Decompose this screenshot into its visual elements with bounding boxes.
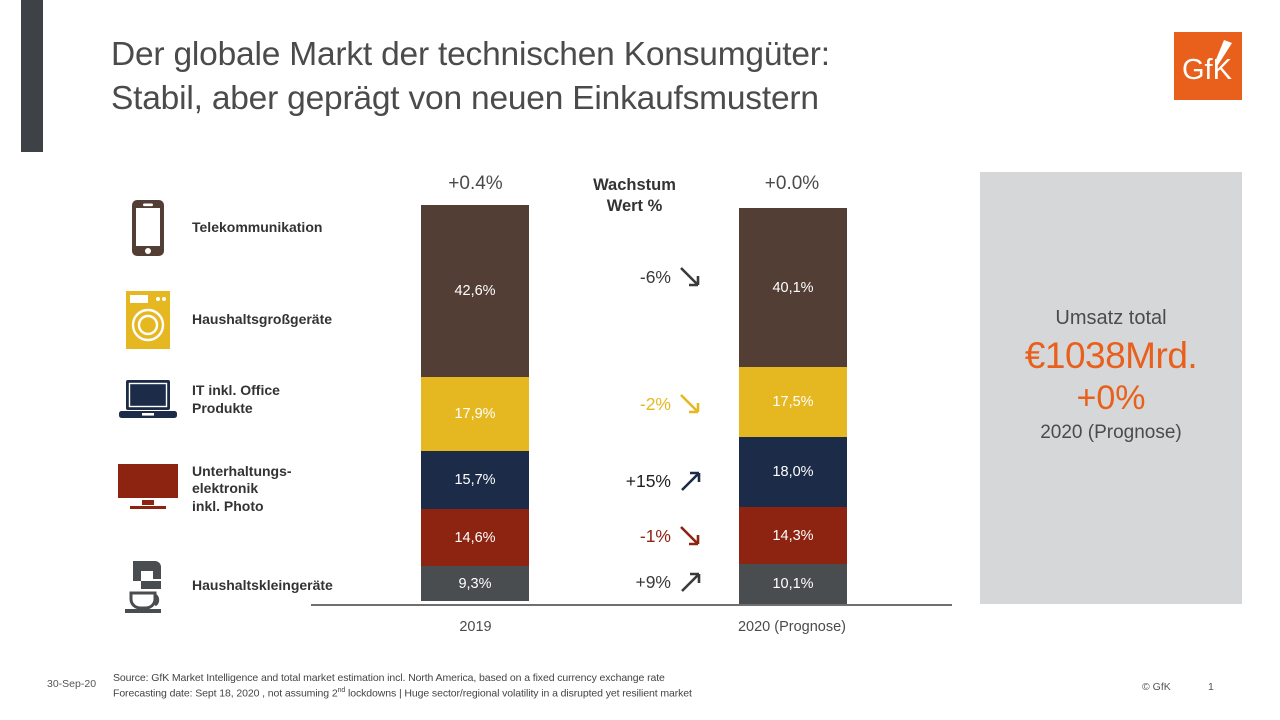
growth-header-line-2: Wert % (565, 196, 704, 217)
growth-value: +15% (626, 471, 671, 492)
legend-label: Unterhaltungs- elektronik inkl. Photo (192, 463, 292, 516)
growth-row-unterhaltungselektronik: -1% (565, 523, 704, 549)
kpi-panel: Umsatz total €1038Mrd. +0% 2020 (Prognos… (980, 172, 1242, 604)
bar-segment: 14,6% (421, 509, 529, 566)
bar-segment: 40,1% (739, 208, 847, 367)
legend-item-it-office: IT inkl. Office Produkte (118, 370, 280, 430)
legend-label: Haushaltskleingeräte (192, 577, 333, 595)
page-title: Der globale Markt der technischen Konsum… (111, 33, 1131, 121)
smartphone-icon (118, 198, 178, 258)
growth-row-haushaltskleingeraete: +9% (565, 569, 704, 595)
growth-value: -1% (640, 526, 671, 547)
footer-source-line-1: Source: GfK Market Intelligence and tota… (113, 671, 692, 686)
title-line-2: Stabil, aber geprägt von neuen Einkaufsm… (111, 77, 1131, 121)
slide-root: Der globale Markt der technischen Konsum… (0, 0, 1280, 720)
washing-machine-icon (118, 290, 178, 350)
growth-column-header: Wachstum Wert % (565, 175, 704, 217)
kpi-subtitle: 2020 (Prognose) (980, 420, 1242, 446)
legend-label: Haushaltsgroßgeräte (192, 311, 332, 329)
column-total-2020: +0.0% (713, 173, 871, 195)
arrow-down-icon (678, 523, 704, 549)
stacked-bar-2020: 40,1% 17,5% 18,0% 14,3% 10,1% (739, 208, 847, 604)
svg-text:GfK: GfK (1182, 54, 1233, 86)
arrow-up-icon (678, 468, 704, 494)
x-axis-label-2019: 2019 (398, 619, 553, 635)
growth-value: -2% (640, 394, 671, 415)
bar-segment: 18,0% (739, 437, 847, 507)
growth-value: +9% (635, 572, 671, 593)
bar-segment: 10,1% (739, 564, 847, 604)
bar-segment: 17,9% (421, 377, 529, 451)
footer-copyright: © GfK (1142, 681, 1171, 693)
kpi-content: Umsatz total €1038Mrd. +0% 2020 (Prognos… (980, 305, 1242, 445)
title-line-1: Der globale Markt der technischen Konsum… (111, 36, 830, 73)
legend-label: Telekommunikation (192, 219, 322, 237)
gfk-logo: GfK (1174, 32, 1242, 100)
growth-header-line-1: Wachstum (565, 175, 704, 196)
kpi-change: +0% (980, 378, 1242, 418)
kpi-value: €1038Mrd. (980, 334, 1242, 378)
footer-source-line-2: Forecasting date: Sept 18, 2020 , not as… (113, 686, 692, 701)
growth-row-it-office: +15% (565, 468, 704, 494)
legend-item-unterhaltungselektronik: Unterhaltungs- elektronik inkl. Photo (118, 459, 292, 519)
growth-row-telekommunikation: -6% (565, 264, 704, 290)
bar-segment: 9,3% (421, 566, 529, 601)
legend-label: IT inkl. Office Produkte (192, 382, 280, 417)
x-axis-label-2020: 2020 (Prognose) (713, 619, 871, 635)
bar-segment: 14,3% (739, 507, 847, 564)
legend-item-telekommunikation: Telekommunikation (118, 198, 322, 258)
coffee-machine-icon (118, 556, 178, 616)
footer-source: Source: GfK Market Intelligence and tota… (113, 671, 692, 701)
laptop-icon (118, 370, 178, 430)
bar-segment: 17,5% (739, 367, 847, 437)
legend-item-haushaltsgrossgeraete: Haushaltsgroßgeräte (118, 290, 332, 350)
footer-source-line-2a: Forecasting date: Sept 18, 2020 , not as… (113, 687, 338, 699)
arrow-up-icon (678, 569, 704, 595)
monitor-icon (118, 459, 178, 519)
arrow-down-icon (678, 391, 704, 417)
column-total-2019: +0.4% (398, 173, 553, 195)
accent-bar (21, 0, 43, 152)
chart-axis-line (311, 604, 952, 606)
kpi-title: Umsatz total (980, 305, 1242, 332)
bar-segment: 42,6% (421, 205, 529, 377)
growth-row-haushaltsgrossgeraete: -2% (565, 391, 704, 417)
legend-item-haushaltskleingeraete: Haushaltskleingeräte (118, 556, 333, 616)
bar-segment: 15,7% (421, 451, 529, 509)
footer-source-line-2b: lockdowns | Huge sector/regional volatil… (345, 687, 692, 699)
arrow-down-icon (678, 264, 704, 290)
footer-date: 30-Sep-20 (47, 678, 96, 690)
growth-value: -6% (640, 267, 671, 288)
stacked-bar-2019: 42,6% 17,9% 15,7% 14,6% 9,3% (421, 205, 529, 601)
footer-page-number: 1 (1208, 681, 1214, 693)
